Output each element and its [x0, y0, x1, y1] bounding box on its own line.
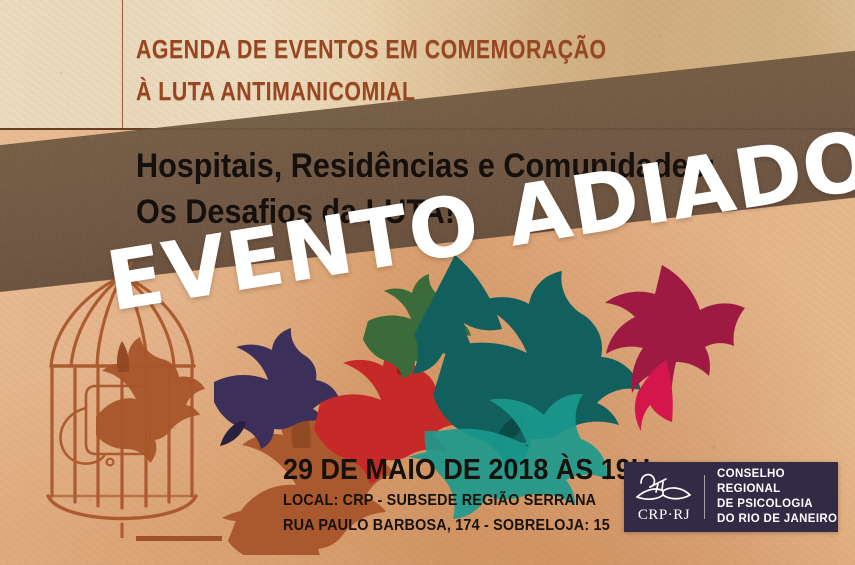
- header-line-1: AGENDA DE EVENTOS EM COMEMORAÇÃO: [136, 28, 644, 70]
- crp-rj-logo-panel: CRP·RJ CONSELHO REGIONAL DE PSICOLOGIA D…: [624, 462, 838, 532]
- crp-rj-name-line-1: CONSELHO REGIONAL: [717, 467, 838, 497]
- crp-rj-logo-mark: CRP·RJ: [624, 462, 704, 532]
- open-book-bird-icon: [632, 470, 696, 506]
- event-details: 29 DE MAIO DE 2018 ÀS 19H LOCAL: CRP - S…: [283, 452, 678, 538]
- bottom-accent-mark: [136, 536, 222, 541]
- crp-rj-name-line-2: DE PSICOLOGIA: [717, 497, 838, 512]
- crp-rj-acronym: CRP·RJ: [638, 507, 690, 524]
- event-date: 29 DE MAIO DE 2018 ÀS 19H: [283, 452, 650, 488]
- event-poster: AGENDA DE EVENTOS EM COMEMORAÇÃO À LUTA …: [0, 0, 855, 565]
- header-vertical-rule: [122, 0, 123, 129]
- crp-rj-name: CONSELHO REGIONAL DE PSICOLOGIA DO RIO D…: [705, 467, 838, 527]
- crp-rj-name-line-3: DO RIO DE JANEIRO: [717, 512, 838, 527]
- event-location-line-1: LOCAL: CRP - SUBSEDE REGIÃO SERRANA: [283, 488, 638, 513]
- event-location-line-2: RUA PAULO BARBOSA, 174 - SOBRELOJA: 15: [283, 513, 638, 538]
